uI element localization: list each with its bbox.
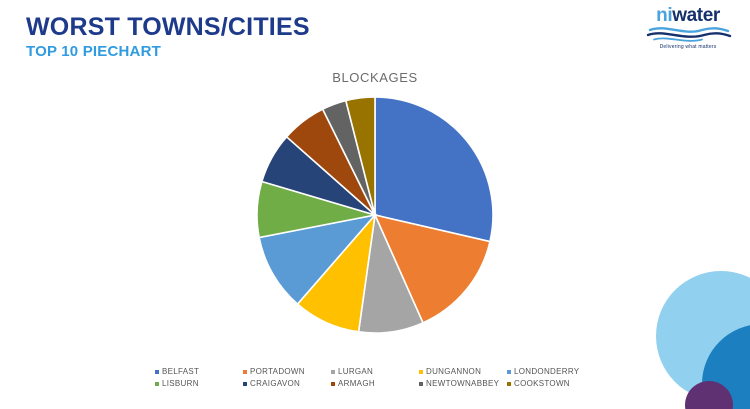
legend-label: NEWTOWNABBEY <box>426 379 499 388</box>
page-subtitle: TOP 10 PIECHART <box>26 43 310 62</box>
legend-item-belfast[interactable]: BELFAST <box>155 367 243 376</box>
legend-label: LONDONDERRY <box>514 367 579 376</box>
legend-swatch-icon <box>419 382 423 386</box>
legend-swatch-icon <box>507 370 511 374</box>
legend-label: LISBURN <box>162 379 199 388</box>
legend-swatch-icon <box>155 370 159 374</box>
pie-chart <box>255 95 495 335</box>
legend-label: CRAIGAVON <box>250 379 300 388</box>
legend-swatch-icon <box>331 382 335 386</box>
legend-item-armagh[interactable]: ARMAGH <box>331 379 419 388</box>
pie-chart-svg[interactable] <box>255 95 495 335</box>
legend-item-londonderry[interactable]: LONDONDERRY <box>507 367 595 376</box>
page-header: WORST TOWNS/CITIES TOP 10 PIECHART <box>26 14 310 62</box>
logo-tagline: Delivering what matters <box>640 44 736 50</box>
niwater-logo: niwater Delivering what matters <box>640 6 736 50</box>
legend-item-newtownabbey[interactable]: NEWTOWNABBEY <box>419 379 507 388</box>
chart-container: BLOCKAGES BELFASTPORTADOWNLURGANDUNGANNO… <box>0 62 750 402</box>
legend-swatch-icon <box>243 370 247 374</box>
legend-swatch-icon <box>243 382 247 386</box>
chart-legend: BELFASTPORTADOWNLURGANDUNGANNONLONDONDER… <box>0 367 750 388</box>
legend-label: LURGAN <box>338 367 373 376</box>
legend-label: ARMAGH <box>338 379 375 388</box>
legend-row: BELFASTPORTADOWNLURGANDUNGANNONLONDONDER… <box>155 367 595 376</box>
legend-item-lisburn[interactable]: LISBURN <box>155 379 243 388</box>
legend-item-cookstown[interactable]: COOKSTOWN <box>507 379 595 388</box>
chart-title: BLOCKAGES <box>0 70 750 85</box>
legend-label: BELFAST <box>162 367 199 376</box>
legend-label: COOKSTOWN <box>514 379 570 388</box>
legend-label: PORTADOWN <box>250 367 305 376</box>
page-title: WORST TOWNS/CITIES <box>26 14 310 41</box>
legend-item-lurgan[interactable]: LURGAN <box>331 367 419 376</box>
legend-swatch-icon <box>507 382 511 386</box>
legend-swatch-icon <box>331 370 335 374</box>
legend-item-portadown[interactable]: PORTADOWN <box>243 367 331 376</box>
logo-waves-icon <box>640 26 736 42</box>
logo-ni-text: ni <box>656 5 672 26</box>
logo-water-text: water <box>672 5 720 26</box>
legend-row: LISBURNCRAIGAVONARMAGHNEWTOWNABBEYCOOKST… <box>155 379 595 388</box>
logo-wordmark: niwater <box>640 6 736 25</box>
legend-swatch-icon <box>155 382 159 386</box>
legend-item-dungannon[interactable]: DUNGANNON <box>419 367 507 376</box>
legend-swatch-icon <box>419 370 423 374</box>
legend-label: DUNGANNON <box>426 367 481 376</box>
legend-item-craigavon[interactable]: CRAIGAVON <box>243 379 331 388</box>
